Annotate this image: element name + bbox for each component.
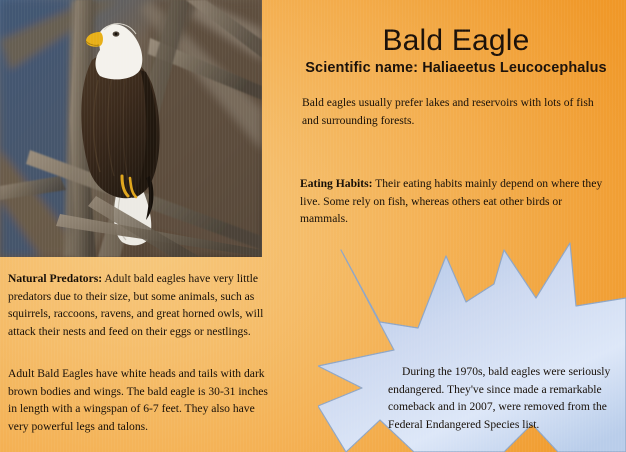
slide-canvas: Bald Eagle Scientific name: Haliaeetus L… bbox=[0, 0, 626, 452]
scientific-name-subtitle: Scientific name: Haliaeetus Leucocephalu… bbox=[286, 60, 626, 76]
natural-predators-paragraph: Natural Predators: Adult bald eagles hav… bbox=[8, 270, 278, 340]
habitat-paragraph: Bald eagles usually prefer lakes and res… bbox=[302, 94, 602, 129]
eagle-photo-illustration bbox=[0, 0, 262, 257]
conservation-paragraph: During the 1970s, bald eagles were serio… bbox=[388, 363, 620, 433]
natural-predators-label: Natural Predators: bbox=[8, 272, 102, 285]
eating-habits-label: Eating Habits: bbox=[300, 177, 372, 190]
appearance-paragraph: Adult Bald Eagles have white heads and t… bbox=[8, 365, 278, 435]
eating-habits-paragraph: Eating Habits: Their eating habits mainl… bbox=[300, 175, 604, 228]
eagle-photo bbox=[0, 0, 262, 257]
page-title: Bald Eagle bbox=[286, 24, 626, 58]
